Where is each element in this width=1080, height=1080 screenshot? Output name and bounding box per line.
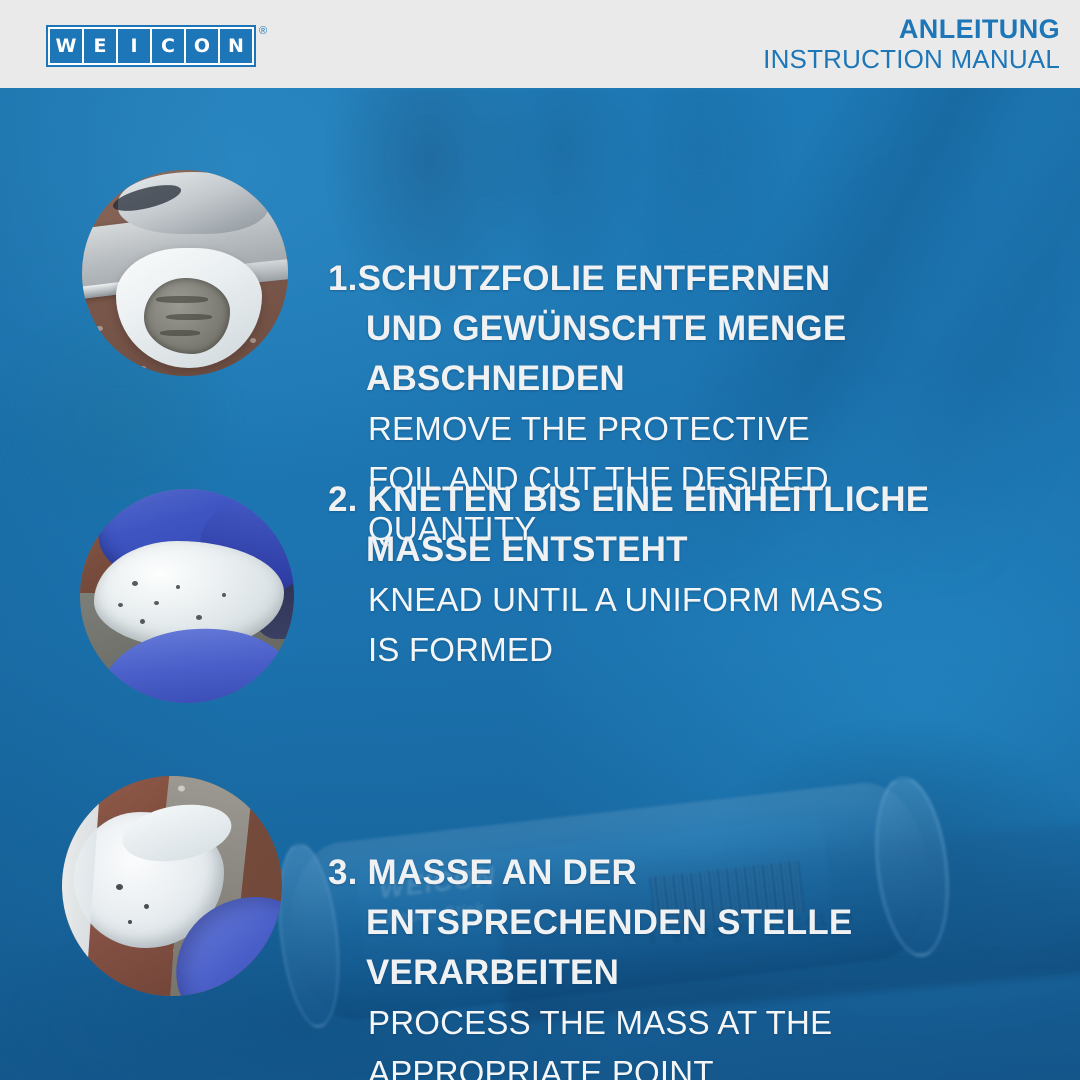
step-1-photo [82,170,288,376]
logo-letter-o: O [186,29,218,63]
page-title-en: INSTRUCTION MANUAL [763,44,1060,75]
step-3-photo [62,776,282,996]
step-2-de-line-2: MASSE ENTSTEHT [328,525,1028,575]
instruction-manual-page: W E I C O N ® ANLEITUNG INSTRUCTION MANU… [0,0,1080,1080]
logo-letter-frame: W E I C O N [46,25,256,67]
instruction-body: WEICON Repair Stick 4 024596 00341 8 [0,88,1080,1080]
step-3-text: 3. MASSE AN DER ENTSPRECHENDEN STELLE VE… [328,848,948,1080]
steps-list: 1.SCHUTZFOLIE ENTFERNEN UND GEWÜNSCHTE M… [0,88,1080,1080]
step-3-de-line-1: 3. MASSE AN DER [328,848,948,898]
repair-stick-core [144,278,230,354]
step-2-photo [80,489,294,703]
registered-trademark-icon: ® [259,26,267,37]
logo-letter-n: N [220,29,252,63]
step-3-en-line-2: APPROPRIATE POINT [328,1048,948,1080]
step-1-de-line-3: ABSCHNEIDEN [328,354,948,404]
logo-letter-c: C [152,29,184,63]
photo-applying-putty [62,776,282,996]
weicon-logo: W E I C O N ® [46,25,267,67]
step-2-de-line-1: 2. KNETEN BIS EINE EINHEITLICHE [328,475,1028,525]
step-2-en-line-1: KNEAD UNTIL A UNIFORM MASS [328,575,1028,625]
photo-knife-cutting-stick [82,170,288,376]
logo-letter-i: I [118,29,150,63]
step-3-de-line-2: ENTSPRECHENDEN STELLE [328,898,948,948]
step-3-de-line-3: VERARBEITEN [328,948,948,998]
step-1-de-line-2: UND GEWÜNSCHTE MENGE [328,304,948,354]
photo-kneading-putty [80,489,294,703]
logo-letter-w: W [50,29,82,63]
step-2-text: 2. KNETEN BIS EINE EINHEITLICHE MASSE EN… [328,475,1028,675]
step-1-en-line-1: REMOVE THE PROTECTIVE [328,404,948,454]
step-2-en-line-2: IS FORMED [328,625,1028,675]
header-titles: ANLEITUNG INSTRUCTION MANUAL [763,14,1060,75]
page-header: W E I C O N ® ANLEITUNG INSTRUCTION MANU… [0,0,1080,88]
logo-letter-e: E [84,29,116,63]
step-1-de-line-1: 1.SCHUTZFOLIE ENTFERNEN [328,254,948,304]
page-title-de: ANLEITUNG [763,14,1060,44]
step-3-en-line-1: PROCESS THE MASS AT THE [328,998,948,1048]
